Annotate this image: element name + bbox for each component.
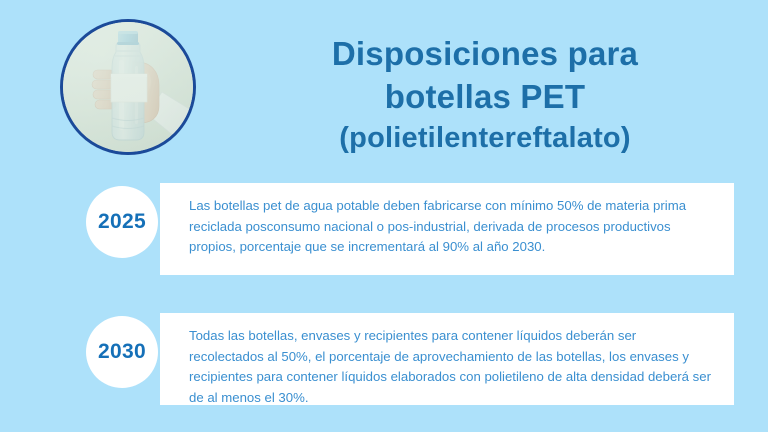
page-title: Disposiciones para botellas PET (polieti… — [245, 32, 725, 158]
title-line-1: Disposiciones para — [245, 32, 725, 75]
info-text-2025: Las botellas pet de agua potable deben f… — [189, 196, 714, 258]
year-badge-2030: 2030 — [86, 316, 158, 388]
year-badge-2025: 2025 — [86, 186, 158, 258]
title-line-2: botellas PET — [245, 75, 725, 118]
bottle-photo — [60, 19, 196, 155]
bottle-photo-inner — [63, 22, 193, 152]
year-badge-2025-label: 2025 — [98, 210, 146, 234]
info-card-2030: Todas las botellas, envases y recipiente… — [160, 313, 734, 405]
year-badge-2030-label: 2030 — [98, 340, 146, 364]
info-card-2025: Las botellas pet de agua potable deben f… — [160, 183, 734, 275]
info-text-2030: Todas las botellas, envases y recipiente… — [189, 326, 714, 408]
hand-holding-pet-water-bottle-icon — [63, 22, 193, 152]
title-line-3: (polietilentereftalato) — [245, 118, 725, 158]
